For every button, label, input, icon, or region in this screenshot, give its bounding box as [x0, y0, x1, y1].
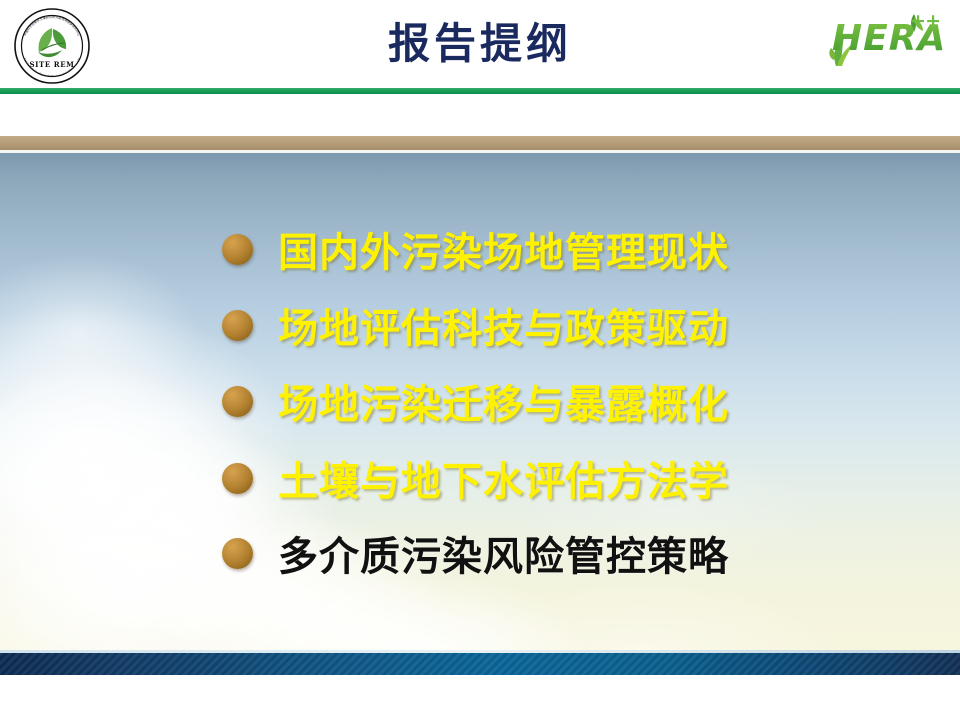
header-green-rule [0, 88, 960, 94]
bullet-sphere-icon [222, 310, 253, 341]
list-item[interactable]: 场地评估科技与政策驱动 [222, 297, 729, 353]
list-item-label: 场地评估科技与政策驱动 [278, 296, 729, 354]
list-item[interactable]: 国内外污染场地管理现状 [222, 221, 729, 277]
bullet-sphere-icon [222, 463, 253, 494]
bullet-sphere-icon [222, 386, 253, 417]
list-item-label: 土壤与地下水评估方法学 [278, 449, 729, 507]
list-item[interactable]: 场地污染迁移与暴露概化 [222, 373, 729, 429]
bullet-sphere-icon [222, 234, 253, 265]
list-item-label: 场地污染迁移与暴露概化 [278, 372, 729, 430]
list-item[interactable]: 多介质污染风险管控策略 [222, 525, 729, 581]
list-item-label: 国内外污染场地管理现状 [278, 220, 729, 278]
tan-divider-band [0, 136, 960, 150]
outline-list: 国内外污染场地管理现状 场地评估科技与政策驱动 场地污染迁移与暴露概化 土壤与地… [0, 153, 960, 653]
footer-white-area [0, 675, 960, 720]
list-item-label: 多介质污染风险管控策略 [278, 524, 729, 582]
list-item[interactable]: 土壤与地下水评估方法学 [222, 450, 729, 506]
bullet-sphere-icon [222, 538, 253, 569]
slide-header: SITE REM 中国科学院南京土壤研究所污染场地修复研究中心 Site Rem… [0, 0, 960, 90]
hera-logo: HERA ++ [822, 8, 942, 80]
slide: SITE REM 中国科学院南京土壤研究所污染场地修复研究中心 Site Rem… [0, 0, 960, 720]
page-title: 报告提纲 [0, 12, 960, 76]
footer-blue-bar [0, 653, 960, 675]
hera-plusplus: ++ [910, 10, 940, 32]
